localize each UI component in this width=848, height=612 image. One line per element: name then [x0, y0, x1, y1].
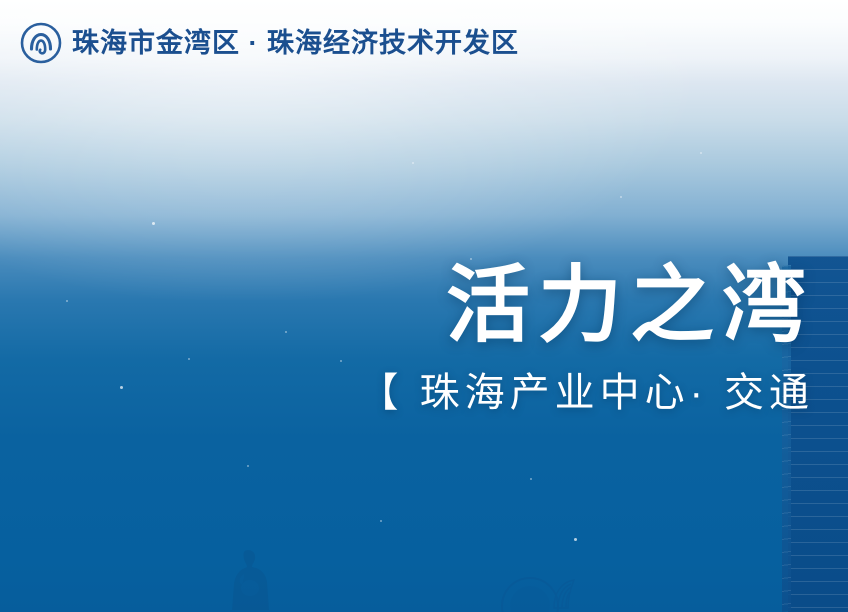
page-root: 珠海市金湾区 · 珠海经济技术开发区 活力之湾 【 珠海产业中心· 交通 — [0, 0, 848, 612]
site-header: 珠海市金湾区 · 珠海经济技术开发区 — [0, 0, 848, 86]
hero-subtitle: 【 珠海产业中心· 交通 — [194, 368, 814, 418]
hero-copy: 活力之湾 【 珠海产业中心· 交通 — [194, 258, 814, 418]
hero-title: 活力之湾 — [194, 258, 814, 352]
brand-name: 珠海市金湾区 · 珠海经济技术开发区 — [72, 30, 519, 57]
brand-link[interactable]: 珠海市金湾区 · 珠海经济技术开发区 — [20, 22, 519, 64]
jinwan-arch-emblem-icon — [20, 22, 62, 64]
